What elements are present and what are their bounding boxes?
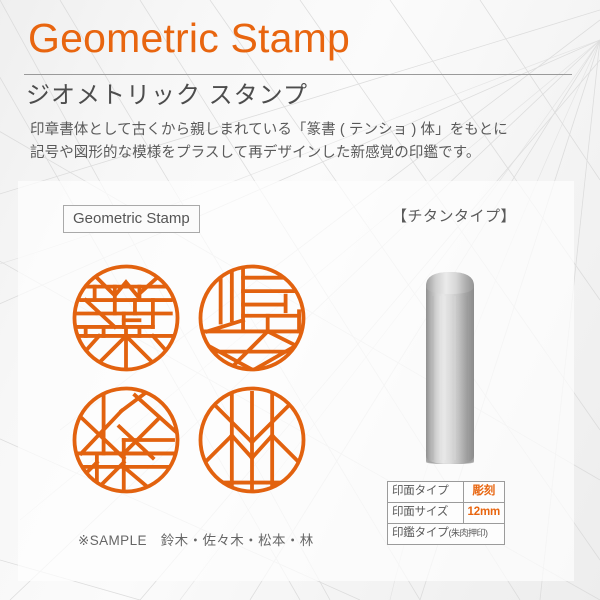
promo-banner: Geometric Stamp ジオメトリック スタンプ 印章書体として古くから… bbox=[0, 0, 600, 600]
sample-note: ※SAMPLE 鈴木・佐々木・松本・林 bbox=[78, 531, 314, 551]
spec-table: 印面タイプ 彫刻 印面サイズ 12mm 印鑑タイプ(朱肉押印) bbox=[387, 481, 505, 545]
spec-key-inkan-type: 印鑑タイプ bbox=[392, 527, 449, 539]
table-row: 印面サイズ 12mm bbox=[388, 503, 505, 524]
description-line-2: 記号や図形的な模様をプラスして再デザインした新感覚の印鑑です。 bbox=[30, 142, 508, 165]
description-line-1: 印章書体として古くから親しまれている「篆書 ( テンショ ) 体」をもとに bbox=[30, 119, 508, 142]
spec-value-inkan-type: (朱肉押印) bbox=[449, 528, 488, 538]
stamp-design-hayashi bbox=[196, 384, 308, 496]
titanium-stamp-image bbox=[424, 270, 476, 466]
table-row: 印面タイプ 彫刻 bbox=[388, 482, 505, 503]
title-divider bbox=[24, 74, 572, 75]
stamp-design-matsumoto bbox=[70, 384, 182, 496]
spec-key-inmen-type: 印面タイプ bbox=[388, 482, 464, 503]
header: Geometric Stamp ジオメトリック スタンプ 印章書体として古くから… bbox=[0, 0, 600, 180]
page-subtitle: ジオメトリック スタンプ bbox=[26, 80, 308, 112]
description: 印章書体として古くから親しまれている「篆書 ( テンショ ) 体」をもとに 記号… bbox=[30, 119, 508, 165]
titanium-type-label: 【チタンタイプ】 bbox=[392, 207, 516, 227]
stamp-sample-grid bbox=[70, 262, 310, 502]
spec-value-inmen-type: 彫刻 bbox=[463, 482, 504, 503]
stamp-design-suzuki bbox=[70, 262, 182, 374]
spec-row-inkan-type: 印鑑タイプ(朱肉押印) bbox=[388, 524, 505, 545]
stamp-design-sasaki bbox=[196, 262, 308, 374]
table-row: 印鑑タイプ(朱肉押印) bbox=[388, 524, 505, 545]
spec-value-inmen-size: 12mm bbox=[463, 503, 504, 524]
page-title: Geometric Stamp bbox=[28, 14, 350, 62]
spec-key-inmen-size: 印面サイズ bbox=[388, 503, 464, 524]
geometric-stamp-label: Geometric Stamp bbox=[63, 205, 200, 233]
